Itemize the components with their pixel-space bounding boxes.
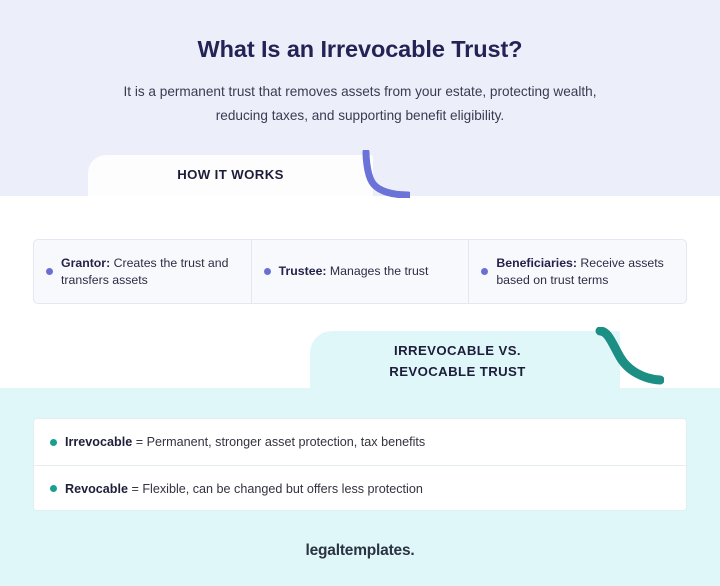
page-title: What Is an Irrevocable Trust? bbox=[0, 36, 720, 63]
card-term: Trustee: bbox=[279, 264, 327, 278]
list-item: Grantor: Creates the trust and transfers… bbox=[34, 240, 251, 303]
table-row: Revocable = Flexible, can be changed but… bbox=[34, 465, 686, 511]
comparison-row-group: Irrevocable = Permanent, stronger asset … bbox=[33, 418, 687, 511]
roles-card-group: Grantor: Creates the trust and transfers… bbox=[33, 239, 687, 304]
comparison-tab-line1: IRREVOCABLE VS. bbox=[394, 343, 521, 358]
card-text: Grantor: Creates the trust and transfers… bbox=[61, 255, 238, 288]
bullet-icon bbox=[264, 268, 271, 275]
purple-swoosh-icon bbox=[360, 150, 410, 198]
card-text: Beneficiaries: Receive assets based on t… bbox=[496, 255, 673, 288]
comparison-description: = Permanent, stronger asset protection, … bbox=[132, 435, 425, 449]
brand-logo: legaltemplates. bbox=[0, 542, 720, 560]
bullet-icon bbox=[50, 485, 57, 492]
bullet-icon bbox=[481, 268, 488, 275]
bullet-icon bbox=[46, 268, 53, 275]
table-row: Irrevocable = Permanent, stronger asset … bbox=[34, 419, 686, 465]
how-it-works-tab-label: HOW IT WORKS bbox=[88, 167, 373, 182]
card-term: Grantor: bbox=[61, 256, 110, 270]
comparison-text: Revocable = Flexible, can be changed but… bbox=[65, 482, 423, 496]
comparison-tab-label: IRREVOCABLE VS. REVOCABLE TRUST bbox=[310, 340, 605, 382]
teal-swoosh-icon bbox=[594, 327, 664, 387]
comparison-text: Irrevocable = Permanent, stronger asset … bbox=[65, 435, 425, 449]
comparison-term: Irrevocable bbox=[65, 435, 132, 449]
card-text: Trustee: Manages the trust bbox=[279, 263, 429, 280]
hero-subtitle: It is a permanent trust that removes ass… bbox=[110, 80, 610, 128]
infographic-page: What Is an Irrevocable Trust? It is a pe… bbox=[0, 0, 720, 586]
comparison-term: Revocable bbox=[65, 482, 128, 496]
card-term: Beneficiaries: bbox=[496, 256, 577, 270]
card-description: Manages the trust bbox=[327, 264, 429, 278]
list-item: Trustee: Manages the trust bbox=[251, 240, 469, 303]
bullet-icon bbox=[50, 439, 57, 446]
list-item: Beneficiaries: Receive assets based on t… bbox=[468, 240, 686, 303]
comparison-description: = Flexible, can be changed but offers le… bbox=[128, 482, 423, 496]
comparison-tab-line2: REVOCABLE TRUST bbox=[389, 364, 525, 379]
